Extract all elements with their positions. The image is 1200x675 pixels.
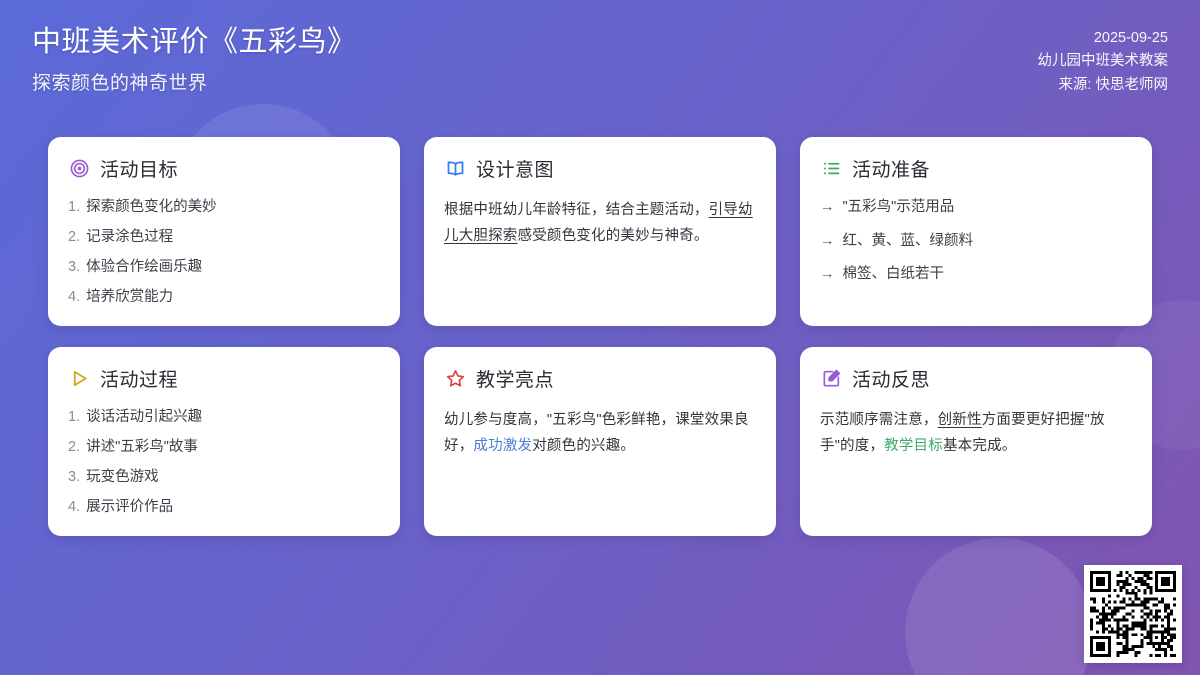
- card-title: 设计意图: [476, 155, 554, 182]
- arrow-bullet-icon: →: [820, 232, 835, 252]
- card-activity-preparation: 活动准备→"五彩鸟"示范用品→红、黄、蓝、绿颜料→棉签、白纸若干: [800, 137, 1152, 326]
- paragraph-text: 对颜色的兴趣。: [532, 438, 635, 454]
- arrow-bullet-icon: →: [820, 265, 835, 285]
- arrow-bullet-icon: →: [820, 198, 835, 218]
- list-item-label: 体验合作绘画乐趣: [86, 258, 202, 278]
- list-item: 4.展示评价作品: [68, 498, 380, 518]
- paragraph-text: 感受颜色变化的美妙与神奇。: [518, 228, 709, 244]
- list-item: →棉签、白纸若干: [820, 265, 1132, 285]
- paragraph-text: 示范顺序需注意，: [820, 412, 938, 428]
- list-item: 2.讲述"五彩鸟"故事: [68, 438, 380, 458]
- slide-canvas: 中班美术评价《五彩鸟》 探索颜色的神奇世界 2025-09-25 幼儿园中班美术…: [0, 0, 1200, 675]
- card-header: 活动目标: [68, 155, 380, 182]
- card-title: 教学亮点: [476, 365, 554, 392]
- list-item: →红、黄、蓝、绿颜料: [820, 232, 1132, 252]
- card-title: 活动目标: [100, 155, 178, 182]
- header-source: 来源: 快思老师网: [1038, 74, 1169, 97]
- arrow-list: →"五彩鸟"示范用品→红、黄、蓝、绿颜料→棉签、白纸若干: [820, 198, 1132, 285]
- star-icon: [444, 368, 466, 390]
- list-item-label: 玩变色游戏: [86, 468, 159, 488]
- list-item-index: 1.: [68, 408, 80, 428]
- play-triangle-icon: [68, 368, 90, 390]
- qr-code[interactable]: [1084, 565, 1182, 663]
- header-left-group: 中班美术评价《五彩鸟》 探索颜色的神奇世界: [32, 0, 357, 95]
- numbered-list: 1.探索颜色变化的美妙2.记录涂色过程3.体验合作绘画乐趣4.培养欣赏能力: [68, 198, 380, 308]
- list-item-index: 1.: [68, 198, 80, 218]
- decorative-circle-bottom-right: [905, 538, 1093, 675]
- list-item: 1.谈话活动引起兴趣: [68, 408, 380, 428]
- header-meta-group: 2025-09-25 幼儿园中班美术教案 来源: 快思老师网: [1038, 0, 1169, 97]
- list-item-label: 展示评价作品: [86, 498, 173, 518]
- list-item-index: 3.: [68, 258, 80, 278]
- list-item-label: 红、黄、蓝、绿颜料: [843, 232, 974, 252]
- slide-header: 中班美术评价《五彩鸟》 探索颜色的神奇世界 2025-09-25 幼儿园中班美术…: [0, 0, 1200, 120]
- card-title: 活动过程: [100, 365, 178, 392]
- list-item: →"五彩鸟"示范用品: [820, 198, 1132, 218]
- list-item-index: 4.: [68, 498, 80, 518]
- list-icon: [820, 158, 842, 180]
- list-item-index: 3.: [68, 468, 80, 488]
- edit-square-icon: [820, 368, 842, 390]
- paragraph-text: 基本完成。: [943, 438, 1017, 454]
- list-item-label: 记录涂色过程: [86, 228, 173, 248]
- qr-code-canvas: [1090, 571, 1176, 657]
- list-item-index: 4.: [68, 288, 80, 308]
- card-activity-goals: 活动目标1.探索颜色变化的美妙2.记录涂色过程3.体验合作绘画乐趣4.培养欣赏能…: [48, 137, 400, 326]
- target-icon: [68, 158, 90, 180]
- list-item-label: 讲述"五彩鸟"故事: [86, 438, 198, 458]
- card-header: 活动反思: [820, 365, 1132, 392]
- paragraph-text: 根据中班幼儿年龄特征，结合主题活动，: [444, 202, 709, 218]
- card-paragraph: 示范顺序需注意，创新性方面要更好把握"放手"的度，教学目标基本完成。: [820, 408, 1132, 460]
- page-subtitle: 探索颜色的神奇世界: [32, 68, 357, 95]
- card-teaching-highlights: 教学亮点幼儿参与度高，"五彩鸟"色彩鲜艳，课堂效果良好，成功激发对颜色的兴趣。: [424, 347, 776, 536]
- list-item-index: 2.: [68, 438, 80, 458]
- list-item-label: 棉签、白纸若干: [843, 265, 945, 285]
- list-item-label: 探索颜色变化的美妙: [86, 198, 217, 218]
- list-item-label: 培养欣赏能力: [86, 288, 173, 308]
- list-item-label: 谈话活动引起兴趣: [86, 408, 202, 428]
- card-paragraph: 幼儿参与度高，"五彩鸟"色彩鲜艳，课堂效果良好，成功激发对颜色的兴趣。: [444, 408, 756, 460]
- page-title: 中班美术评价《五彩鸟》: [32, 24, 357, 60]
- card-activity-process: 活动过程1.谈话活动引起兴趣2.讲述"五彩鸟"故事3.玩变色游戏4.展示评价作品: [48, 347, 400, 536]
- list-item: 1.探索颜色变化的美妙: [68, 198, 380, 218]
- list-item: 3.玩变色游戏: [68, 468, 380, 488]
- numbered-list: 1.谈话活动引起兴趣2.讲述"五彩鸟"故事3.玩变色游戏4.展示评价作品: [68, 408, 380, 518]
- card-grid: 活动目标1.探索颜色变化的美妙2.记录涂色过程3.体验合作绘画乐趣4.培养欣赏能…: [48, 137, 1152, 536]
- list-item-label: "五彩鸟"示范用品: [843, 198, 955, 218]
- card-header: 活动准备: [820, 155, 1132, 182]
- card-design-intent: 设计意图根据中班幼儿年龄特征，结合主题活动，引导幼儿大胆探索感受颜色变化的美妙与…: [424, 137, 776, 326]
- card-header: 活动过程: [68, 365, 380, 392]
- header-category: 幼儿园中班美术教案: [1038, 50, 1169, 73]
- card-title: 活动反思: [852, 365, 930, 392]
- card-paragraph: 根据中班幼儿年龄特征，结合主题活动，引导幼儿大胆探索感受颜色变化的美妙与神奇。: [444, 198, 756, 250]
- emphasis-underline: 创新性: [938, 412, 982, 428]
- open-book-icon: [444, 158, 466, 180]
- list-item: 2.记录涂色过程: [68, 228, 380, 248]
- card-title: 活动准备: [852, 155, 930, 182]
- list-item: 4.培养欣赏能力: [68, 288, 380, 308]
- list-item-index: 2.: [68, 228, 80, 248]
- card-header: 教学亮点: [444, 365, 756, 392]
- header-date: 2025-09-25: [1038, 27, 1169, 50]
- card-header: 设计意图: [444, 155, 756, 182]
- card-activity-reflection: 活动反思示范顺序需注意，创新性方面要更好把握"放手"的度，教学目标基本完成。: [800, 347, 1152, 536]
- emphasis-green: 教学目标: [884, 438, 943, 454]
- emphasis-blue: 成功激发: [473, 438, 532, 454]
- list-item: 3.体验合作绘画乐趣: [68, 258, 380, 278]
